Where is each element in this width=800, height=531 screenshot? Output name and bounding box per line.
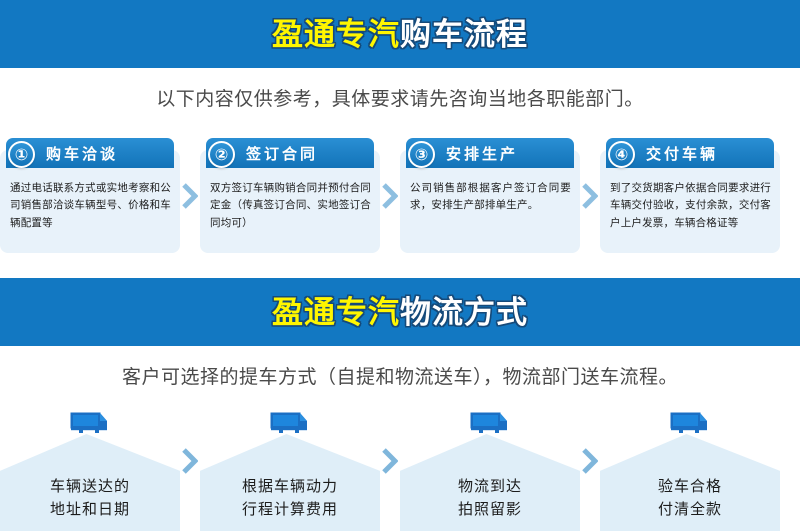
purchase-step-2-number: ② [208,141,235,168]
purchase-step-1-number: ① [8,141,35,168]
logistics-step-3: 物流到达 拍照留影 [400,408,580,531]
logistics-step-1: 车辆送达的 地址和日期 [0,408,180,531]
purchase-step-3-number: ③ [408,141,435,168]
purchase-step-2: ② 签订合同 双方签订车辆购销合同并预付合同定金（传真签订合同、实地签订合同均可… [200,138,380,253]
chevron-right-icon-3 [580,138,600,253]
logistics-banner-title: 盈通专汽物流方式 [272,297,528,328]
logistics-step-2-line2: 行程计算费用 [200,498,380,521]
logistics-step-4-line2: 付清全款 [600,498,780,521]
logistics-banner-rest: 物流方式 [400,295,528,330]
logistics-banner: 盈通专汽物流方式 [0,278,800,346]
purchase-step-1: ① 购车洽谈 通过电话联系方式或实地考察和公司销售部洽谈车辆型号、价格和车辆配置… [0,138,180,253]
logistics-step-4-text: 验车合格 付清全款 [600,475,780,522]
purchase-step-1-text: 通过电话联系方式或实地考察和公司销售部洽谈车辆型号、价格和车辆配置等 [10,180,171,232]
infographic-page: 盈通专汽购车流程 以下内容仅供参考，具体要求请先咨询当地各职能部门。 ① 购车洽… [0,0,800,531]
logistics-step-2-text: 根据车辆动力 行程计算费用 [200,475,380,522]
chevron-right-icon-2 [380,138,400,253]
logistics-step-1-line2: 地址和日期 [0,498,180,521]
purchase-banner: 盈通专汽购车流程 [0,0,800,68]
truck-icon-2 [268,410,312,441]
logistics-step-2-line1: 根据车辆动力 [200,475,380,498]
logistics-step-3-line2: 拍照留影 [400,498,580,521]
purchase-subtitle: 以下内容仅供参考，具体要求请先咨询当地各职能部门。 [0,84,800,111]
purchase-step-2-text: 双方签订车辆购销合同并预付合同定金（传真签订合同、实地签订合同均可） [210,180,371,232]
logistics-banner-brand: 盈通专汽 [272,295,400,330]
purchase-step-4: ④ 交付车辆 到了交货期客户依据合同要求进行车辆交付验收，支付余款，交付客户上户… [600,138,780,253]
chevron-right-icon-4 [180,408,200,531]
chevron-right-icon-1 [180,138,200,253]
truck-icon-3 [468,410,512,441]
logistics-subtitle: 客户可选择的提车方式（自提和物流送车），物流部门送车流程。 [0,362,800,389]
purchase-step-3: ③ 安排生产 公司销售部根据客户签订合同要求，安排生产部排单生产。 [400,138,580,253]
purchase-step-4-title: 交付车辆 [646,138,718,168]
logistics-step-2: 根据车辆动力 行程计算费用 [200,408,380,531]
purchase-step-3-title: 安排生产 [446,138,518,168]
logistics-step-4-line1: 验车合格 [600,475,780,498]
truck-icon-1 [68,410,112,441]
logistics-step-1-line1: 车辆送达的 [0,475,180,498]
purchase-step-3-text: 公司销售部根据客户签订合同要求，安排生产部排单生产。 [410,180,571,215]
purchase-step-4-text: 到了交货期客户依据合同要求进行车辆交付验收，支付余款，交付客户上户发票，车辆合格… [610,180,771,232]
logistics-steps-row: 车辆送达的 地址和日期 [0,408,800,531]
logistics-step-3-line1: 物流到达 [400,475,580,498]
purchase-banner-title: 盈通专汽购车流程 [272,19,528,50]
purchase-steps-row: ① 购车洽谈 通过电话联系方式或实地考察和公司销售部洽谈车辆型号、价格和车辆配置… [0,138,800,253]
purchase-step-4-number: ④ [608,141,635,168]
chevron-right-icon-6 [580,408,600,531]
logistics-step-3-text: 物流到达 拍照留影 [400,475,580,522]
purchase-step-2-title: 签订合同 [246,138,318,168]
purchase-banner-rest: 购车流程 [400,17,528,52]
logistics-step-4: 验车合格 付清全款 [600,408,780,531]
chevron-right-icon-5 [380,408,400,531]
purchase-step-1-title: 购车洽谈 [46,138,118,168]
purchase-banner-brand: 盈通专汽 [272,17,400,52]
truck-icon-4 [668,410,712,441]
logistics-step-1-text: 车辆送达的 地址和日期 [0,475,180,522]
